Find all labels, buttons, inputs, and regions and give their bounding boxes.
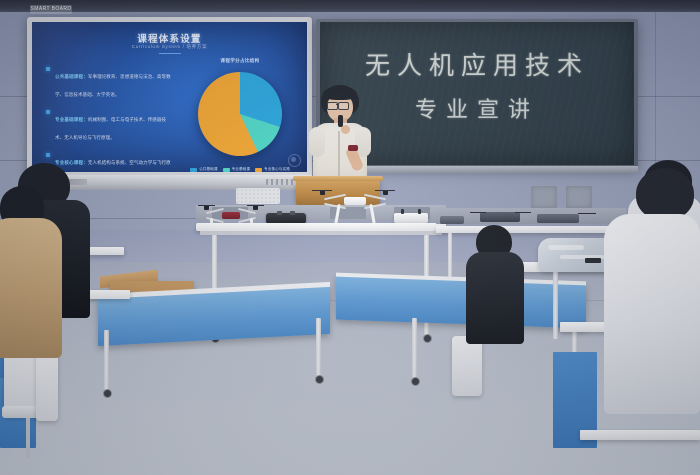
screen-glare [32,22,307,172]
desk-caster [103,389,112,398]
garment-fold [548,245,584,250]
wristwatch-icon [348,145,358,151]
drone-propeller [470,212,486,213]
drone-propeller [198,205,215,206]
bench-caster [423,334,432,343]
case-latch [277,211,282,215]
presenter-fringe [323,87,357,100]
classroom-photo: SMART BOARD 课程体系设置 Curriculum System / 培… [0,0,700,475]
table-leg [553,271,558,339]
right-bench-backsplash [436,208,626,224]
desk-leg [316,318,321,376]
display-brand-label: SMART BOARD [30,5,72,14]
student-chair [452,336,482,396]
drone-case-grey [537,214,579,223]
interactive-display[interactable]: SMART BOARD 课程体系设置 Curriculum System / 培… [27,17,312,177]
drone-propeller [515,212,531,213]
wall-mounted-box [566,186,592,208]
folding-drone-dark [480,212,520,222]
case-latch [290,211,295,215]
demo-bench-apron [200,231,442,235]
student-head [636,168,694,220]
drone-propeller [247,205,264,206]
drone-propeller [312,190,332,191]
presenter-hand [341,125,350,134]
wall-mounted-box [531,186,557,208]
lectern-top [293,176,383,181]
chalk-title-line-1: 无人机应用技术 [320,46,634,82]
smartphone-on-desk[interactable] [585,258,601,263]
wall-speaker-grille [236,188,280,204]
desk-leg [412,318,417,378]
glasses-bridge [336,104,339,105]
desk-caster [315,375,324,384]
glasses-right-lens-icon [338,102,349,110]
student-torso [0,218,62,358]
folding-drone-grey [440,216,464,224]
display-screen[interactable]: 课程体系设置 Curriculum System / 培养方案 公共基础课程：军… [32,22,307,172]
blouse-placket [338,131,340,181]
chair-post [26,412,30,458]
presentation-slide: 课程体系设置 Curriculum System / 培养方案 公共基础课程：军… [32,22,307,172]
student-torso [604,214,700,414]
drone-body [344,197,366,205]
student-tabletop-white [580,430,700,440]
desk-leg [104,330,109,390]
desk-caster [411,377,420,386]
controller-box-white [394,213,428,223]
demo-bench-top [196,223,446,231]
lectern [296,179,380,205]
right-bench-top [436,226,626,233]
drone-body [222,212,240,219]
drone-propeller [375,190,395,191]
controller-stick [401,209,404,214]
presenter-sleeve-left [309,127,325,157]
drone-propeller [578,213,596,214]
controller-stick [418,209,421,214]
student-torso [466,252,524,344]
